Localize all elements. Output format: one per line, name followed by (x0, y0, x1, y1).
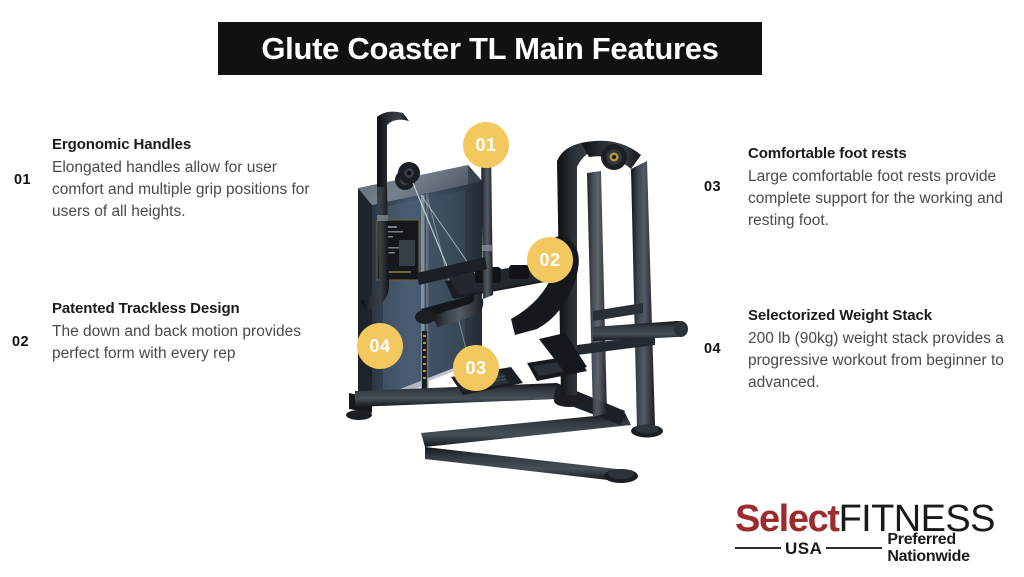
feature-text-03: Comfortable foot rests Large comfortable… (748, 145, 1014, 232)
feature-heading-01: Ergonomic Handles (52, 136, 324, 154)
feature-description-04: 200 lb (90kg) weight stack provides a pr… (748, 328, 1006, 394)
logo-rule-right (826, 547, 882, 549)
page-title-bar: Glute Coaster TL Main Features (218, 22, 762, 75)
feature-description-02: The down and back motion provides perfec… (52, 321, 312, 365)
page-title: Glute Coaster TL Main Features (261, 33, 718, 64)
feature-number-03: 03 (704, 179, 721, 195)
brand-logo: SelectFITNESS USA Preferred Nationwide (735, 500, 1015, 562)
feature-description-01: Elongated handles allow for user comfort… (52, 157, 324, 223)
logo-usa-text: USA (781, 540, 826, 557)
logo-tagline: Preferred Nationwide (882, 531, 1015, 565)
callout-badge-01[interactable]: 01 (463, 122, 509, 168)
front-hand-rail (593, 321, 688, 341)
feature-heading-02: Patented Trackless Design (52, 300, 312, 318)
feature-heading-03: Comfortable foot rests (748, 145, 1014, 163)
callout-badge-03[interactable]: 03 (453, 345, 499, 391)
infographic-page: Glute Coaster TL Main Features (0, 0, 1024, 577)
logo-rule-left (735, 547, 781, 549)
feature-number-02: 02 (12, 334, 29, 350)
feature-heading-04: Selectorized Weight Stack (748, 307, 1006, 325)
feature-number-01: 01 (14, 172, 31, 188)
logo-subline: USA Preferred Nationwide (735, 538, 1015, 558)
feature-number-04: 04 (704, 341, 721, 357)
feature-text-04: Selectorized Weight Stack 200 lb (90kg) … (748, 307, 1006, 394)
callout-badge-02[interactable]: 02 (527, 237, 573, 283)
feature-text-02: Patented Trackless Design The down and b… (52, 300, 312, 365)
feature-text-01: Ergonomic Handles Elongated handles allo… (52, 136, 324, 223)
gym-machine-illustration (325, 95, 700, 485)
feature-description-03: Large comfortable foot rests provide com… (748, 166, 1014, 232)
logo-select-text: Select (735, 498, 839, 540)
product-image (325, 95, 700, 485)
callout-badge-04[interactable]: 04 (357, 323, 403, 369)
